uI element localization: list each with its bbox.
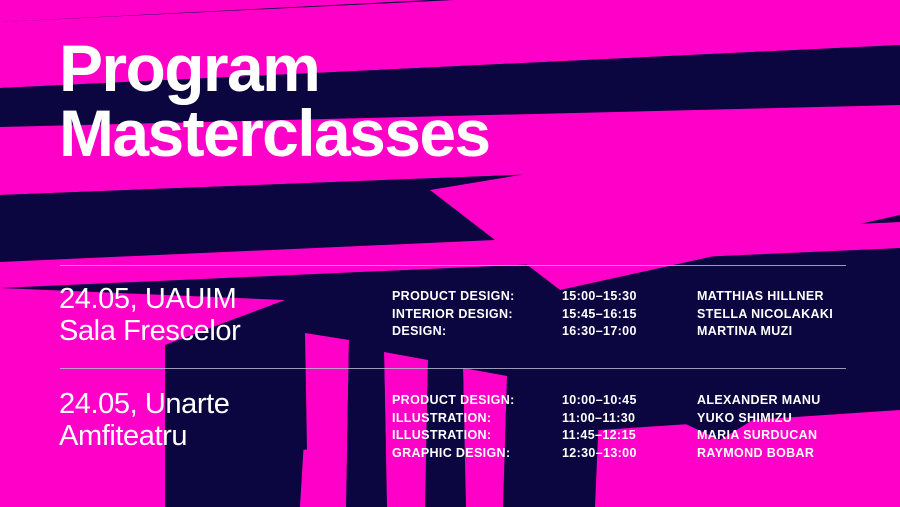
title-line-1: Program xyxy=(59,36,490,101)
session-time: 10:00–10:45 xyxy=(562,392,697,410)
session-row: GRAPHIC DESIGN:12:30–13:00RAYMOND BOBAR xyxy=(392,445,821,463)
venue-1-date-location: 24.05, UAUIM xyxy=(59,283,240,315)
venue-block-2: 24.05, Unarte Amfiteatru xyxy=(59,388,230,453)
session-row: DESIGN:16:30–17:00MARTINA MUZI xyxy=(392,323,833,341)
divider-line-1 xyxy=(60,265,846,266)
session-topic: PRODUCT DESIGN: xyxy=(392,392,562,410)
session-speaker: ALEXANDER MANU xyxy=(697,392,821,410)
session-topic: ILLUSTRATION: xyxy=(392,427,562,445)
session-topic: PRODUCT DESIGN: xyxy=(392,288,562,306)
poster-canvas: Program Masterclasses 24.05, UAUIM Sala … xyxy=(0,0,900,507)
session-speaker: RAYMOND BOBAR xyxy=(697,445,814,463)
venue-2-date-location: 24.05, Unarte xyxy=(59,388,230,420)
session-row: ILLUSTRATION:11:00–11:30YUKO SHIMIZU xyxy=(392,410,821,428)
content-layer: Program Masterclasses 24.05, UAUIM Sala … xyxy=(0,0,900,507)
session-speaker: MARIA SURDUCAN xyxy=(697,427,817,445)
session-topic: DESIGN: xyxy=(392,323,562,341)
venue-block-1: 24.05, UAUIM Sala Frescelor xyxy=(59,283,240,348)
venue-2-room: Amfiteatru xyxy=(59,420,230,452)
session-time: 15:45–16:15 xyxy=(562,306,697,324)
venue-1-room: Sala Frescelor xyxy=(59,315,240,347)
session-row: PRODUCT DESIGN:15:00–15:30MATTHIAS HILLN… xyxy=(392,288,833,306)
session-time: 11:00–11:30 xyxy=(562,410,697,428)
session-row: ILLUSTRATION:11:45–12:15MARIA SURDUCAN xyxy=(392,427,821,445)
divider-line-2 xyxy=(60,368,846,369)
session-topic: GRAPHIC DESIGN: xyxy=(392,445,562,463)
session-schedule-2: PRODUCT DESIGN:10:00–10:45ALEXANDER MANU… xyxy=(392,392,821,462)
session-topic: ILLUSTRATION: xyxy=(392,410,562,428)
session-speaker: STELLA NICOLAKAKI xyxy=(697,306,833,324)
session-speaker: YUKO SHIMIZU xyxy=(697,410,792,428)
session-time: 12:30–13:00 xyxy=(562,445,697,463)
title-line-2: Masterclasses xyxy=(59,101,490,166)
session-topic: INTERIOR DESIGN: xyxy=(392,306,562,324)
session-schedule-1: PRODUCT DESIGN:15:00–15:30MATTHIAS HILLN… xyxy=(392,288,833,341)
session-time: 15:00–15:30 xyxy=(562,288,697,306)
session-time: 11:45–12:15 xyxy=(562,427,697,445)
session-time: 16:30–17:00 xyxy=(562,323,697,341)
page-title: Program Masterclasses xyxy=(59,36,490,165)
session-row: INTERIOR DESIGN:15:45–16:15STELLA NICOLA… xyxy=(392,306,833,324)
session-row: PRODUCT DESIGN:10:00–10:45ALEXANDER MANU xyxy=(392,392,821,410)
session-speaker: MATTHIAS HILLNER xyxy=(697,288,824,306)
session-speaker: MARTINA MUZI xyxy=(697,323,792,341)
